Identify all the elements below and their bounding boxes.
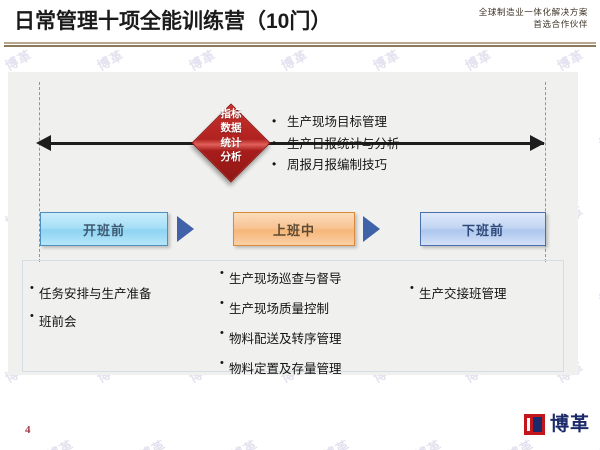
- arrow-triangle-2-icon: [363, 216, 380, 242]
- watermark-text: 博革: [93, 45, 127, 75]
- watermark-text: 博革: [319, 435, 353, 450]
- slide-header: 日常管理十项全能训练营（10门） 全球制造业一体化解决方案 首选合作伙伴: [0, 0, 600, 46]
- list-item: 班前会: [30, 311, 152, 330]
- arrow-head-right-icon: [530, 135, 545, 151]
- watermark-text: 博革: [553, 45, 587, 75]
- watermark-text: 博革: [369, 45, 403, 75]
- slide-canvas: 博革博革博革博革博革博革博革博革博革博革博革博革博革博革博革博革博革博革博革博革…: [0, 0, 600, 450]
- list-item: 生产现场巡查与督导: [220, 268, 342, 287]
- watermark-text: 博革: [595, 123, 600, 153]
- watermark-text: 博革: [411, 435, 445, 450]
- list-item: 生产现场目标管理: [272, 112, 400, 134]
- top-bullet-list: 生产现场目标管理 生产日报统计与分析 周报月报编制技巧: [272, 112, 400, 177]
- arrow-triangle-1-icon: [177, 216, 194, 242]
- list-item: 生产日报统计与分析: [272, 134, 400, 156]
- diamond-line-3: 统计: [189, 136, 273, 150]
- tagline-line-1: 全球制造业一体化解决方案: [479, 6, 588, 18]
- watermark-text: 博革: [1, 45, 35, 75]
- diamond-label: 指标 数据 统计 分析: [189, 107, 273, 165]
- page-title: 日常管理十项全能训练营（10门）: [14, 5, 331, 35]
- logo-mark-icon: [524, 414, 545, 435]
- stage-box-before-shift[interactable]: 开班前: [40, 212, 168, 246]
- header-tagline: 全球制造业一体化解决方案 首选合作伙伴: [479, 6, 588, 31]
- stage-box-during-shift[interactable]: 上班中: [233, 212, 355, 246]
- watermark-text: 博革: [227, 435, 261, 450]
- list-item: 周报月报编制技巧: [272, 155, 400, 177]
- list-item: 任务安排与生产准备: [30, 283, 152, 302]
- watermark-text: 博革: [277, 45, 311, 75]
- list-item: 生产交接班管理: [410, 283, 507, 302]
- diamond-line-1: 指标: [189, 107, 273, 121]
- tagline-line-2: 首选合作伙伴: [479, 18, 588, 30]
- stage-label: 开班前: [83, 220, 125, 239]
- watermark-text: 博革: [461, 45, 495, 75]
- diamond-callout: 指标 数据 统计 分析: [189, 99, 273, 187]
- diamond-line-4: 分析: [189, 150, 273, 164]
- arrow-head-left-icon: [36, 135, 51, 151]
- stage-box-end-shift[interactable]: 下班前: [420, 212, 546, 246]
- task-column-end-shift: 生产交接班管理: [410, 283, 507, 311]
- watermark-text: 博革: [595, 435, 600, 450]
- watermark-text: 博革: [43, 435, 77, 450]
- watermark-text: 博革: [135, 435, 169, 450]
- watermark-text: 博革: [185, 45, 219, 75]
- task-column-during-shift: 生产现场巡查与督导 生产现场质量控制 物料配送及转序管理 物料定置及存量管理: [220, 268, 342, 388]
- logo-text: 博革: [550, 415, 590, 434]
- stage-label: 上班中: [273, 220, 315, 239]
- watermark-text: 博革: [595, 279, 600, 309]
- watermark-text: 博革: [503, 435, 537, 450]
- brand-logo: 博革: [524, 414, 590, 435]
- list-item: 生产现场质量控制: [220, 298, 342, 317]
- stage-label: 下班前: [462, 220, 504, 239]
- page-number: 4: [25, 424, 31, 436]
- task-column-before-shift: 任务安排与生产准备 班前会: [30, 283, 152, 339]
- list-item: 物料配送及转序管理: [220, 328, 342, 347]
- diamond-line-2: 数据: [189, 121, 273, 135]
- list-item: 物料定置及存量管理: [220, 358, 342, 377]
